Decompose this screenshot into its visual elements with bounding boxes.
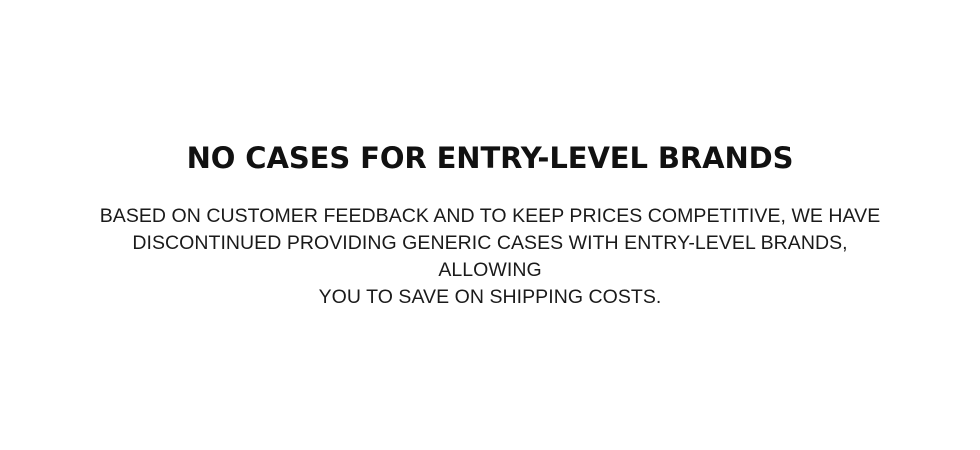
promo-description-line-1: BASED ON CUSTOMER FEEDBACK AND TO KEEP P… bbox=[90, 203, 890, 230]
promo-description-line-2: DISCONTINUED PROVIDING GENERIC CASES WIT… bbox=[90, 230, 890, 284]
promo-banner: NO CASES FOR ENTRY-LEVEL BRANDS BASED ON… bbox=[0, 0, 980, 450]
promo-description: BASED ON CUSTOMER FEEDBACK AND TO KEEP P… bbox=[90, 203, 890, 311]
page-title: NO CASES FOR ENTRY-LEVEL BRANDS bbox=[40, 141, 940, 175]
promo-description-line-3: YOU TO SAVE ON SHIPPING COSTS. bbox=[90, 284, 890, 311]
